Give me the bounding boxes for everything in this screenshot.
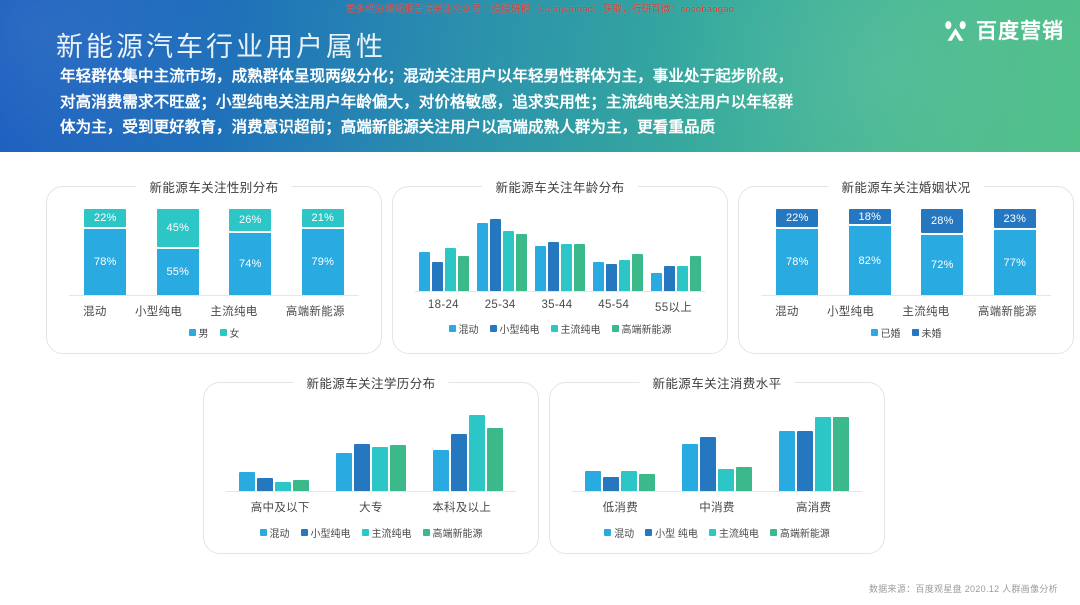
legend-swatch [709, 529, 716, 536]
legend-item[interactable]: 主流纯电 [362, 525, 412, 540]
bar [700, 437, 716, 491]
bar-value-label: 22% [786, 212, 809, 224]
category-label: 高消费 [796, 499, 831, 515]
page-title: 新能源汽车行业用户属性 [56, 25, 386, 64]
bar [239, 472, 255, 491]
bar [458, 256, 469, 291]
category-label: 低消费 [603, 499, 638, 515]
chart-card-age: 新能源车关注年龄分布18-2425-3435-4445-5455以上混动小型纯电… [392, 186, 728, 354]
legend-label: 混动 [459, 321, 479, 336]
bar [487, 428, 503, 491]
legend-label: 小型纯电 [311, 525, 351, 540]
bar [606, 264, 617, 291]
category-label: 混动 [775, 303, 799, 319]
stacked-bar: 22%78% [776, 209, 818, 295]
stacked-bar: 26%74% [229, 209, 271, 295]
subtitle-line-1: 年轻群体集中主流市场，成熟群体呈现两级分化；混动关注用户以年轻男性群体为主，事业… [60, 64, 1010, 90]
bar [390, 445, 406, 491]
bar-segment: 22% [776, 209, 818, 227]
source-footnote: 数据来源：百度观星盘 2020.12 人群画像分析 [869, 582, 1058, 595]
legend-item[interactable]: 小型纯电 [490, 321, 540, 336]
bar [477, 223, 488, 291]
legend-label: 小型 纯电 [655, 525, 698, 540]
bar-group [419, 248, 469, 291]
bar-segment: 78% [84, 229, 126, 295]
bar [682, 444, 698, 491]
legend-label: 高端新能源 [433, 525, 483, 540]
category-label: 中消费 [699, 499, 734, 515]
bar [718, 469, 734, 491]
bar [797, 431, 813, 491]
legend-swatch [645, 529, 652, 536]
bar [593, 262, 604, 291]
bar [445, 248, 456, 291]
bar-segment: 28% [921, 209, 963, 233]
chart-title: 新能源车关注年龄分布 [482, 177, 637, 196]
bar-segment: 82% [849, 226, 891, 295]
bar-segment: 45% [157, 209, 199, 247]
bar-segment: 26% [229, 209, 271, 231]
legend-item[interactable]: 主流纯电 [709, 525, 759, 540]
bar [490, 219, 501, 291]
category-label: 高端新能源 [286, 303, 345, 319]
bar [639, 474, 655, 491]
bar [664, 266, 675, 291]
category-label: 混动 [83, 303, 107, 319]
bar [585, 471, 601, 492]
bar [651, 273, 662, 291]
chart-category-axis: 混动小型纯电主流纯电高端新能源 [761, 303, 1051, 319]
page-subtitle: 年轻群体集中主流市场，成熟群体呈现两级分化；混动关注用户以年轻男性群体为主，事业… [60, 64, 1010, 141]
bar-value-label: 78% [94, 256, 117, 268]
chart-legend: 已婚未婚 [739, 325, 1073, 340]
bar-group [585, 471, 655, 492]
bar-value-label: 18% [858, 211, 881, 223]
chart-axis-baseline [226, 491, 516, 492]
chart-category-axis: 高中及以下大专本科及以上 [226, 499, 516, 515]
legend-swatch [604, 529, 611, 536]
legend-item[interactable]: 已婚 [871, 325, 901, 340]
legend-swatch [770, 529, 777, 536]
legend-item[interactable]: 小型纯电 [301, 525, 351, 540]
legend-label: 已婚 [881, 325, 901, 340]
legend-swatch [260, 529, 267, 536]
legend-item[interactable]: 混动 [260, 525, 290, 540]
chart-plot-area: 22%78%18%82%28%72%23%77% [761, 209, 1051, 295]
chart-legend: 混动小型纯电主流纯电高端新能源 [393, 321, 727, 336]
bar-segment: 78% [776, 229, 818, 295]
promo-text: 更多细分领域报告请关注公众号：搜搜研报（sosoyanbao）获取，行研百微：s… [346, 1, 734, 15]
category-label: 高端新能源 [978, 303, 1037, 319]
bar [736, 467, 752, 491]
legend-label: 主流纯电 [719, 525, 759, 540]
bar-group [336, 444, 406, 491]
legend-label: 主流纯电 [372, 525, 412, 540]
chart-category-axis: 混动小型纯电主流纯电高端新能源 [69, 303, 359, 319]
legend-swatch [912, 329, 919, 336]
bar [433, 450, 449, 491]
bar [632, 254, 643, 291]
chart-card-marriage: 新能源车关注婚姻状况22%78%18%82%28%72%23%77%混动小型纯电… [738, 186, 1074, 354]
bar-value-label: 79% [311, 256, 334, 268]
chart-title: 新能源车关注学历分布 [293, 373, 448, 392]
chart-legend: 混动小型 纯电主流纯电高端新能源 [550, 525, 884, 540]
bar [779, 431, 795, 491]
bar-group [535, 242, 585, 291]
legend-item[interactable]: 未婚 [912, 325, 942, 340]
chart-category-axis: 低消费中消费高消费 [572, 499, 862, 515]
bar-value-label: 45% [166, 222, 189, 234]
legend-label: 男 [199, 325, 209, 340]
bar [621, 471, 637, 492]
legend-swatch [423, 529, 430, 536]
chart-title: 新能源车关注婚姻状况 [828, 177, 983, 196]
bar [336, 453, 352, 491]
subtitle-line-3: 体为主，受到更好教育，消费意识超前；高端新能源关注用户以高端成熟人群为主，更看重… [60, 115, 1010, 141]
subtitle-line-2: 对高消费需求不旺盛；小型纯电关注用户年龄偏大，对价格敏感，追求实用性；主流纯电关… [60, 90, 1010, 116]
category-label: 35-44 [541, 299, 572, 315]
legend-swatch [189, 329, 196, 336]
category-label: 小型纯电 [827, 303, 874, 319]
bar [833, 417, 849, 491]
chart-plot-area [415, 213, 705, 291]
chart-legend: 混动小型纯电主流纯电高端新能源 [204, 525, 538, 540]
stacked-bar: 45%55% [157, 209, 199, 295]
chart-axis-baseline [415, 291, 705, 292]
bar [275, 482, 291, 491]
bar-segment: 77% [994, 230, 1036, 295]
bar-value-label: 28% [931, 215, 954, 227]
bar-value-label: 82% [858, 255, 881, 267]
category-label: 主流纯电 [902, 303, 949, 319]
bar [372, 447, 388, 491]
chart-category-axis: 18-2425-3435-4445-5455以上 [415, 299, 705, 315]
legend-item[interactable]: 女 [220, 325, 240, 340]
chart-plot-area [226, 409, 516, 491]
stacked-bar: 21%79% [302, 209, 344, 295]
chart-card-education: 新能源车关注学历分布高中及以下大专本科及以上混动小型纯电主流纯电高端新能源 [203, 382, 539, 554]
chart-card-gender: 新能源车关注性别分布22%78%45%55%26%74%21%79%混动小型纯电… [46, 186, 382, 354]
category-label: 18-24 [428, 299, 459, 315]
slide-header: 更多细分领域报告请关注公众号：搜搜研报（sosoyanbao）获取，行研百微：s… [0, 0, 1080, 152]
bar-value-label: 26% [239, 214, 262, 226]
legend-swatch [301, 529, 308, 536]
stacked-bar: 23%77% [994, 209, 1036, 295]
bar-group [779, 417, 849, 491]
promo-banner: 更多细分领域报告请关注公众号：搜搜研报（sosoyanbao）获取，行研百微：s… [0, 0, 1080, 16]
bar [815, 417, 831, 491]
bar [574, 244, 585, 291]
legend-label: 未婚 [922, 325, 942, 340]
category-label: 主流纯电 [210, 303, 257, 319]
category-label: 25-34 [485, 299, 516, 315]
category-label: 45-54 [598, 299, 629, 315]
legend-label: 高端新能源 [780, 525, 830, 540]
chart-axis-baseline [69, 295, 359, 296]
bar-segment: 23% [994, 209, 1036, 228]
bar [419, 252, 430, 291]
legend-item[interactable]: 高端新能源 [770, 525, 830, 540]
bar-segment: 18% [849, 209, 891, 224]
stacked-bar: 18%82% [849, 209, 891, 295]
bar [293, 480, 309, 491]
legend-label: 混动 [614, 525, 634, 540]
bar-segment: 79% [302, 229, 344, 295]
legend-swatch [490, 325, 497, 332]
legend-item[interactable]: 混动 [449, 321, 479, 336]
bar [503, 231, 514, 291]
category-label: 55以上 [655, 299, 692, 315]
legend-swatch [362, 529, 369, 536]
bar [354, 444, 370, 491]
legend-swatch [612, 325, 619, 332]
bar-value-label: 77% [1003, 257, 1026, 269]
legend-item[interactable]: 混动 [604, 525, 634, 540]
legend-swatch [871, 329, 878, 336]
legend-label: 混动 [270, 525, 290, 540]
legend-item[interactable]: 主流纯电 [551, 321, 601, 336]
legend-label: 高端新能源 [622, 321, 672, 336]
legend-label: 女 [230, 325, 240, 340]
bar [619, 260, 630, 291]
bar-value-label: 72% [931, 259, 954, 271]
bar [257, 478, 273, 491]
bar-value-label: 55% [166, 266, 189, 278]
bar-value-label: 74% [239, 258, 262, 270]
legend-item[interactable]: 小型 纯电 [645, 525, 698, 540]
bar-value-label: 22% [94, 212, 117, 224]
stacked-bar: 28%72% [921, 209, 963, 295]
chart-axis-baseline [572, 491, 862, 492]
bar-segment: 55% [157, 249, 199, 295]
legend-label: 小型纯电 [500, 321, 540, 336]
bar [516, 234, 527, 291]
legend-swatch [220, 329, 227, 336]
chart-plot-area [572, 409, 862, 491]
slide: 更多细分领域报告请关注公众号：搜搜研报（sosoyanbao）获取，行研百微：s… [0, 0, 1080, 605]
chart-title: 新能源车关注消费水平 [639, 373, 794, 392]
bar-value-label: 23% [1003, 213, 1026, 225]
bar [451, 434, 467, 491]
bar-segment: 22% [84, 209, 126, 227]
category-label: 高中及以下 [251, 499, 310, 515]
bar [535, 246, 546, 291]
baidu-paw-icon [942, 18, 969, 45]
bar-group [593, 254, 643, 291]
bar [690, 256, 701, 291]
bar-segment: 72% [921, 235, 963, 295]
category-label: 大专 [359, 499, 383, 515]
category-label: 本科及以上 [432, 499, 491, 515]
bar-group [433, 415, 503, 491]
stacked-bar: 22%78% [84, 209, 126, 295]
chart-plot-area: 22%78%45%55%26%74%21%79% [69, 209, 359, 295]
legend-swatch [449, 325, 456, 332]
chart-card-consumption: 新能源车关注消费水平低消费中消费高消费混动小型 纯电主流纯电高端新能源 [549, 382, 885, 554]
legend-label: 主流纯电 [561, 321, 601, 336]
legend-item[interactable]: 高端新能源 [423, 525, 483, 540]
bar-group [477, 219, 527, 291]
bar [603, 477, 619, 491]
bar-segment: 21% [302, 209, 344, 227]
bar [548, 242, 559, 291]
legend-item[interactable]: 男 [189, 325, 209, 340]
category-label: 小型纯电 [135, 303, 182, 319]
bar [561, 244, 572, 291]
chart-legend: 男女 [47, 325, 381, 340]
bar-group [239, 472, 309, 491]
bar-group [682, 437, 752, 491]
bar [432, 262, 443, 291]
chart-axis-baseline [761, 295, 1051, 296]
legend-swatch [551, 325, 558, 332]
chart-title: 新能源车关注性别分布 [136, 177, 291, 196]
bar-value-label: 78% [786, 256, 809, 268]
bar [469, 415, 485, 491]
bar-group [651, 256, 701, 291]
brand-name: 百度营销 [976, 21, 1064, 42]
brand-logo: 百度营销 [942, 18, 1064, 45]
bar-value-label: 21% [311, 212, 334, 224]
legend-item[interactable]: 高端新能源 [612, 321, 672, 336]
bar [677, 266, 688, 291]
bar-segment: 74% [229, 233, 271, 295]
